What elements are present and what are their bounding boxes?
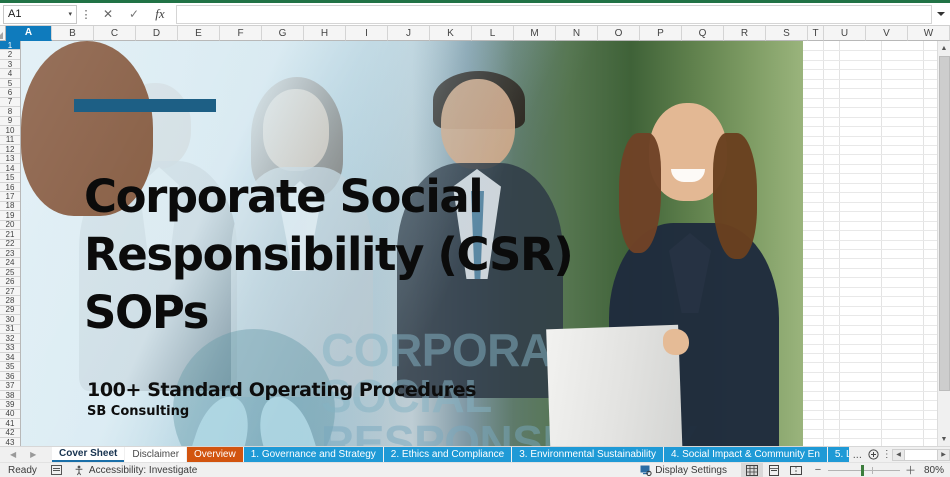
row-header-37[interactable]: 37: [0, 381, 20, 390]
column-header-h[interactable]: H: [304, 26, 346, 41]
status-ready-label: Ready: [8, 465, 37, 476]
sheet-tab-label: Disclaimer: [132, 447, 179, 462]
sheet-tab-cover-sheet[interactable]: Cover Sheet: [52, 447, 124, 462]
column-header-b[interactable]: B: [52, 26, 94, 41]
row-header-42[interactable]: 42: [0, 429, 20, 438]
row-header-39[interactable]: 39: [0, 400, 20, 409]
row-header-6[interactable]: 6: [0, 88, 20, 97]
zoom-slider-track[interactable]: [828, 470, 900, 471]
spreadsheet-app: A1 ▾ ⋮ ✕ ✓ fx ABCDEFGHIJKLMNOPQRSTUVW 12…: [0, 0, 950, 477]
row-header-3[interactable]: 3: [0, 60, 20, 69]
vertical-scrollbar[interactable]: ▲ ▼: [937, 41, 950, 446]
status-bar: Ready Accessibility: Investigate Display…: [0, 462, 950, 477]
row-header-30[interactable]: 30: [0, 315, 20, 324]
display-settings-label: Display Settings: [655, 465, 727, 476]
gridline-horizontal: [803, 183, 937, 184]
normal-view-icon[interactable]: [741, 463, 763, 477]
gridline-horizontal: [803, 353, 937, 354]
gridline-horizontal: [803, 79, 937, 80]
scroll-down-icon[interactable]: ▼: [938, 432, 950, 446]
gridline-horizontal: [803, 69, 937, 70]
formula-bar: A1 ▾ ⋮ ✕ ✓ fx: [0, 3, 950, 26]
worksheet-area: ABCDEFGHIJKLMNOPQRSTUVW 1234567891011121…: [0, 26, 950, 446]
sheet-options-icon[interactable]: ⋮: [882, 447, 892, 462]
row-header-34[interactable]: 34: [0, 353, 20, 362]
sheet-nav-prev-icon[interactable]: ◀: [10, 450, 16, 459]
row-header-10[interactable]: 10: [0, 126, 20, 135]
column-header-e[interactable]: E: [178, 26, 220, 41]
gridline-horizontal: [803, 419, 937, 420]
gridline-vertical: [823, 41, 824, 446]
row-header-15[interactable]: 15: [0, 173, 20, 182]
worksheet-body: 1234567891011121314151617181920212223242…: [0, 41, 950, 446]
gridline-horizontal: [803, 277, 937, 278]
cover-title: Corporate Social Responsibility (CSR) SO…: [84, 168, 704, 342]
row-header-24[interactable]: 24: [0, 258, 20, 267]
cover-image: CORPORATE SOCIAL RESPONSIBILITY: [21, 41, 803, 446]
gridline-horizontal: [803, 107, 937, 108]
gridline-horizontal: [803, 306, 937, 307]
zoom-level-label[interactable]: 80%: [920, 465, 944, 476]
sheet-tabs: Cover SheetDisclaimerOverview1. Governan…: [52, 447, 849, 462]
page-layout-icon[interactable]: [763, 463, 785, 477]
column-header-o[interactable]: O: [598, 26, 640, 41]
gridline-vertical: [881, 41, 882, 446]
sheet-tab-label: 1. Governance and Strategy: [251, 447, 376, 462]
cover-subtitle: 100+ Standard Operating Procedures: [87, 379, 476, 401]
row-header-27[interactable]: 27: [0, 287, 20, 296]
gridline-horizontal: [803, 88, 937, 89]
zoom-slider-tick: [872, 467, 873, 474]
column-header-d[interactable]: D: [136, 26, 178, 41]
accessibility-label: Accessibility: Investigate: [89, 465, 197, 476]
sheet-tab-label: 3. Environmental Sustainability: [519, 447, 656, 462]
row-header-22[interactable]: 22: [0, 240, 20, 249]
name-box[interactable]: A1 ▾: [3, 5, 77, 24]
column-header-a[interactable]: A: [6, 26, 52, 41]
gridline-horizontal: [803, 126, 937, 127]
gridline-horizontal: [803, 192, 937, 193]
sheet-tab-label: Cover Sheet: [59, 447, 117, 462]
hscroll-track[interactable]: [905, 449, 937, 461]
gridline-horizontal: [803, 145, 937, 146]
row-header-9[interactable]: 9: [0, 117, 20, 126]
select-all-triangle-icon[interactable]: [0, 26, 6, 41]
sheet-canvas[interactable]: CORPORATE SOCIAL RESPONSIBILITY: [21, 41, 937, 446]
gridline-horizontal: [803, 268, 937, 269]
formula-options-icon[interactable]: ⋮: [77, 8, 95, 21]
row-header-1[interactable]: 1: [0, 41, 20, 50]
gridline-horizontal: [803, 410, 937, 411]
accessibility-status[interactable]: Accessibility: Investigate: [74, 465, 197, 476]
row-header-4[interactable]: 4: [0, 69, 20, 78]
row-header-5[interactable]: 5: [0, 79, 20, 88]
gridline-horizontal: [803, 344, 937, 345]
gridline-horizontal: [803, 240, 937, 241]
gridline-horizontal: [803, 154, 937, 155]
column-header-m[interactable]: M: [514, 26, 556, 41]
horizontal-scrollbar[interactable]: ◀ ▶: [892, 447, 950, 462]
gridline-horizontal: [803, 173, 937, 174]
column-header-p[interactable]: P: [640, 26, 682, 41]
empty-grid-cells: [803, 41, 937, 446]
row-header-20[interactable]: 20: [0, 221, 20, 230]
gridline-horizontal: [803, 438, 937, 439]
row-header-38[interactable]: 38: [0, 391, 20, 400]
gridline-horizontal: [803, 381, 937, 382]
column-header-s[interactable]: S: [766, 26, 808, 41]
enter-icon[interactable]: ✓: [121, 4, 147, 25]
row-header-7[interactable]: 7: [0, 98, 20, 107]
gridline-horizontal: [803, 136, 937, 137]
gridline-horizontal: [803, 117, 937, 118]
gridline-vertical: [923, 41, 924, 446]
row-header-13[interactable]: 13: [0, 154, 20, 163]
page-break-preview-icon[interactable]: [785, 463, 807, 477]
cover-title-line-2: Responsibility (CSR): [84, 226, 704, 284]
cover-company-name: SB Consulting: [87, 404, 189, 419]
row-header-23[interactable]: 23: [0, 249, 20, 258]
sheet-tab-label: Overview: [194, 447, 236, 462]
name-box-value: A1: [8, 8, 68, 20]
row-header-21[interactable]: 21: [0, 230, 20, 239]
row-header-33[interactable]: 33: [0, 344, 20, 353]
column-header-t[interactable]: T: [808, 26, 824, 41]
gridline-horizontal: [803, 391, 937, 392]
row-header-25[interactable]: 25: [0, 268, 20, 277]
row-header-12[interactable]: 12: [0, 145, 20, 154]
row-header-26[interactable]: 26: [0, 277, 20, 286]
cover-title-line-1: Corporate Social: [84, 168, 704, 226]
sheet-tabs-overflow[interactable]: ...: [849, 447, 866, 462]
row-header-8[interactable]: 8: [0, 107, 20, 116]
column-header-u[interactable]: U: [824, 26, 866, 41]
sheet-tab-1-governance-and-strategy[interactable]: 1. Governance and Strategy: [244, 447, 383, 462]
add-sheet-icon[interactable]: [866, 447, 882, 462]
row-header-40[interactable]: 40: [0, 410, 20, 419]
column-header-i[interactable]: I: [346, 26, 388, 41]
row-header-17[interactable]: 17: [0, 192, 20, 201]
row-header-35[interactable]: 35: [0, 362, 20, 371]
gridline-horizontal: [803, 362, 937, 363]
column-header-k[interactable]: K: [430, 26, 472, 41]
hscroll-left-icon[interactable]: ◀: [892, 449, 905, 461]
zoom-in-icon[interactable]: ＋: [905, 462, 915, 477]
gridline-horizontal: [803, 211, 937, 212]
gridline-horizontal: [803, 230, 937, 231]
gridline-horizontal: [803, 249, 937, 250]
gridline-horizontal: [803, 287, 937, 288]
column-header-r[interactable]: R: [724, 26, 766, 41]
sheet-tab-4-social-impact-community-en[interactable]: 4. Social Impact & Community En: [664, 447, 827, 462]
zoom-slider-thumb[interactable]: [861, 465, 864, 476]
row-header-29[interactable]: 29: [0, 306, 20, 315]
column-header-j[interactable]: J: [388, 26, 430, 41]
gridline-horizontal: [803, 258, 937, 259]
status-right-group: Display Settings − ＋ 80%: [640, 462, 944, 477]
row-header-11[interactable]: 11: [0, 136, 20, 145]
formula-input[interactable]: [176, 5, 932, 24]
gridline-horizontal: [803, 400, 937, 401]
row-header-16[interactable]: 16: [0, 183, 20, 192]
cancel-icon[interactable]: ✕: [95, 4, 121, 25]
zoom-control[interactable]: − ＋ 80%: [813, 462, 944, 477]
column-header-l[interactable]: L: [472, 26, 514, 41]
row-headers: 1234567891011121314151617181920212223242…: [0, 41, 21, 446]
column-header-q[interactable]: Q: [682, 26, 724, 41]
sheet-tab-label: 2. Ethics and Compliance: [391, 447, 504, 462]
column-header-n[interactable]: N: [556, 26, 598, 41]
sheet-tab-label: 4. Social Impact & Community En: [671, 447, 820, 462]
row-header-36[interactable]: 36: [0, 372, 20, 381]
row-header-43[interactable]: 43: [0, 438, 20, 446]
gridline-horizontal: [803, 50, 937, 51]
cover-accent-bar: [74, 99, 216, 112]
row-header-31[interactable]: 31: [0, 325, 20, 334]
sheet-nav-next-icon[interactable]: ▶: [30, 450, 36, 459]
row-header-28[interactable]: 28: [0, 296, 20, 305]
insert-function-icon[interactable]: fx: [147, 4, 173, 25]
sheet-tab-3-environmental-sustainability[interactable]: 3. Environmental Sustainability: [512, 447, 663, 462]
gridline-horizontal: [803, 221, 937, 222]
gridline-horizontal: [803, 164, 937, 165]
gridline-horizontal: [803, 325, 937, 326]
scroll-up-icon[interactable]: ▲: [938, 41, 950, 55]
column-header-v[interactable]: V: [866, 26, 908, 41]
row-header-41[interactable]: 41: [0, 419, 20, 428]
vertical-scrollbar-thumb[interactable]: [939, 56, 950, 391]
zoom-out-icon[interactable]: −: [813, 464, 823, 476]
cover-title-line-3: SOPs: [84, 284, 704, 342]
sheet-tab-bar: ◀ ▶ Cover SheetDisclaimerOverview1. Gove…: [0, 446, 950, 462]
gridline-horizontal: [803, 315, 937, 316]
macro-record-icon[interactable]: [51, 465, 62, 475]
gridline-horizontal: [803, 60, 937, 61]
sheet-tab-disclaimer[interactable]: Disclaimer: [125, 447, 186, 462]
column-header-f[interactable]: F: [220, 26, 262, 41]
sheet-tab-2-ethics-and-compliance[interactable]: 2. Ethics and Compliance: [384, 447, 511, 462]
row-header-19[interactable]: 19: [0, 211, 20, 220]
row-header-18[interactable]: 18: [0, 202, 20, 211]
hscroll-right-icon[interactable]: ▶: [937, 449, 950, 461]
gridline-vertical: [839, 41, 840, 446]
row-header-32[interactable]: 32: [0, 334, 20, 343]
chevron-down-icon[interactable]: [932, 4, 950, 25]
gridline-horizontal: [803, 98, 937, 99]
gridline-horizontal: [803, 372, 937, 373]
gridline-horizontal: [803, 202, 937, 203]
row-header-2[interactable]: 2: [0, 50, 20, 59]
sheet-tab-overview[interactable]: Overview: [187, 447, 243, 462]
display-settings-button[interactable]: Display Settings: [640, 465, 727, 476]
sheet-tab-5-labor-practices-human[interactable]: 5. Labor Practices & Human: [828, 447, 849, 462]
gridline-horizontal: [803, 334, 937, 335]
gridline-horizontal: [803, 429, 937, 430]
gridline-horizontal: [803, 296, 937, 297]
row-header-14[interactable]: 14: [0, 164, 20, 173]
column-header-g[interactable]: G: [262, 26, 304, 41]
sheet-nav-buttons: ◀ ▶: [0, 447, 52, 462]
column-headers: ABCDEFGHIJKLMNOPQRSTUVW: [0, 26, 950, 41]
column-header-w[interactable]: W: [908, 26, 950, 41]
name-box-dropdown-icon[interactable]: ▾: [68, 10, 72, 18]
column-header-c[interactable]: C: [94, 26, 136, 41]
sheet-tab-label: 5. Labor Practices & Human: [835, 447, 849, 462]
